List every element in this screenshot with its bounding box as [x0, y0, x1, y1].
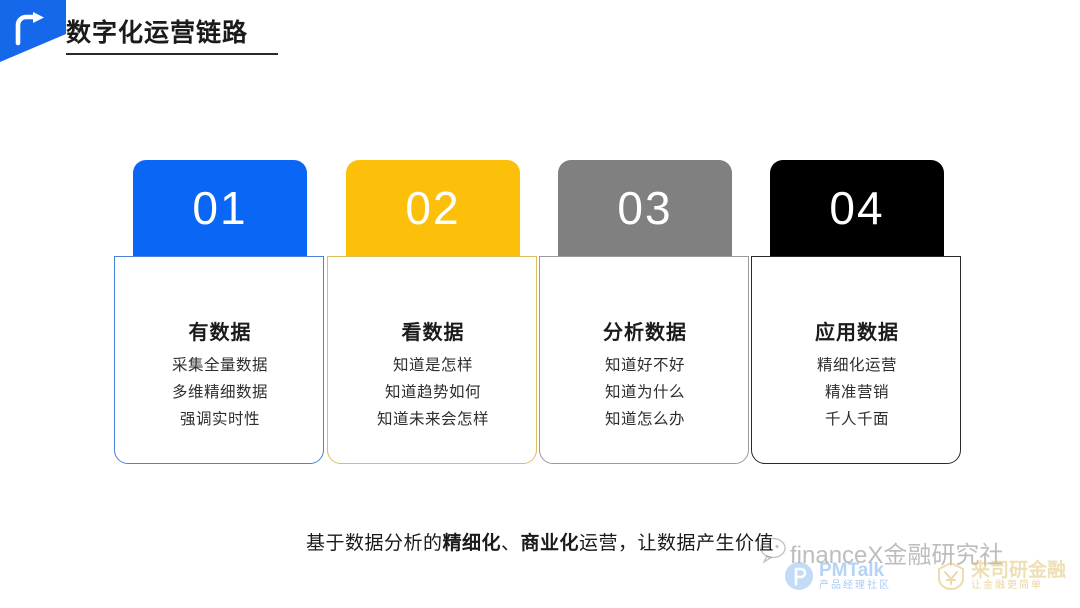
- card-line: 精准营销: [752, 379, 962, 406]
- caption-emphasis-2: 商业化: [521, 533, 580, 554]
- card-line: 多维精细数据: [115, 379, 325, 406]
- caption-emphasis-1: 精细化: [442, 533, 501, 554]
- card-lines-03: 知道好不好 知道为什么 知道怎么办: [540, 352, 750, 433]
- card-line: 知道好不好: [540, 352, 750, 379]
- pmtalk-logo-text: PMTalk 产品经理社区: [819, 561, 891, 591]
- card-line: 知道是怎样: [328, 352, 538, 379]
- card-lines-01: 采集全量数据 多维精细数据 强调实时性: [115, 352, 325, 433]
- process-card-01[interactable]: 01 有数据 采集全量数据 多维精细数据 强调实时性: [114, 156, 326, 468]
- card-body-03: 分析数据 知道好不好 知道为什么 知道怎么办: [539, 256, 749, 464]
- card-line: 知道为什么: [540, 379, 750, 406]
- card-line: 精细化运营: [752, 352, 962, 379]
- header-pennant-banner: [0, 0, 66, 62]
- card-lines-02: 知道是怎样 知道趋势如何 知道未来会怎样: [328, 352, 538, 433]
- process-cards-row: 01 有数据 采集全量数据 多维精细数据 强调实时性 02 看数据 知道是怎样 …: [0, 156, 1080, 476]
- finance-logo-text: 来司研金融 让金融更简单: [971, 561, 1066, 591]
- page-header: 数字化运营链路: [0, 0, 1080, 70]
- pmtalk-badge-icon: [784, 561, 814, 591]
- card-lines-04: 精细化运营 精准营销 千人千面: [752, 352, 962, 433]
- caption-suffix: 运营，让数据产生价值: [579, 533, 774, 554]
- card-title-04: 应用数据: [752, 316, 962, 345]
- process-card-03[interactable]: 03 分析数据 知道好不好 知道为什么 知道怎么办: [539, 156, 751, 468]
- pmtalk-name: PMTalk: [819, 561, 891, 581]
- card-number-04: 04: [770, 160, 944, 256]
- card-title-02: 看数据: [328, 316, 538, 345]
- turn-right-arrow-icon: [14, 12, 48, 46]
- card-number-02: 02: [346, 160, 520, 256]
- process-card-02[interactable]: 02 看数据 知道是怎样 知道趋势如何 知道未来会怎样: [327, 156, 539, 468]
- card-line: 知道怎么办: [540, 406, 750, 433]
- caption-separator: 、: [501, 533, 521, 554]
- card-number-01: 01: [133, 160, 307, 256]
- page-title: 数字化运营链路: [66, 13, 248, 49]
- caption-prefix: 基于数据分析的: [306, 533, 443, 554]
- card-title-03: 分析数据: [540, 316, 750, 345]
- card-body-02: 看数据 知道是怎样 知道趋势如何 知道未来会怎样: [327, 256, 537, 464]
- card-body-04: 应用数据 精细化运营 精准营销 千人千面: [751, 256, 961, 464]
- pmtalk-sub: 产品经理社区: [819, 581, 891, 592]
- watermark-logo-pmtalk: PMTalk 产品经理社区: [784, 561, 891, 591]
- finance-sub: 让金融更简单: [971, 581, 1066, 592]
- card-line: 强调实时性: [115, 406, 325, 433]
- card-title-01: 有数据: [115, 316, 325, 345]
- finance-badge-icon: [936, 561, 966, 591]
- card-line: 知道未来会怎样: [328, 406, 538, 433]
- title-underline: [66, 53, 278, 55]
- card-line: 知道趋势如何: [328, 379, 538, 406]
- card-line: 采集全量数据: [115, 352, 325, 379]
- footer-caption: 基于数据分析的精细化、商业化运营，让数据产生价值: [0, 528, 1080, 555]
- process-card-04[interactable]: 04 应用数据 精细化运营 精准营销 千人千面: [751, 156, 963, 468]
- watermark-logo-finance: 来司研金融 让金融更简单: [936, 561, 1066, 591]
- card-line: 千人千面: [752, 406, 962, 433]
- card-body-01: 有数据 采集全量数据 多维精细数据 强调实时性: [114, 256, 324, 464]
- card-number-03: 03: [558, 160, 732, 256]
- finance-name: 来司研金融: [971, 561, 1066, 581]
